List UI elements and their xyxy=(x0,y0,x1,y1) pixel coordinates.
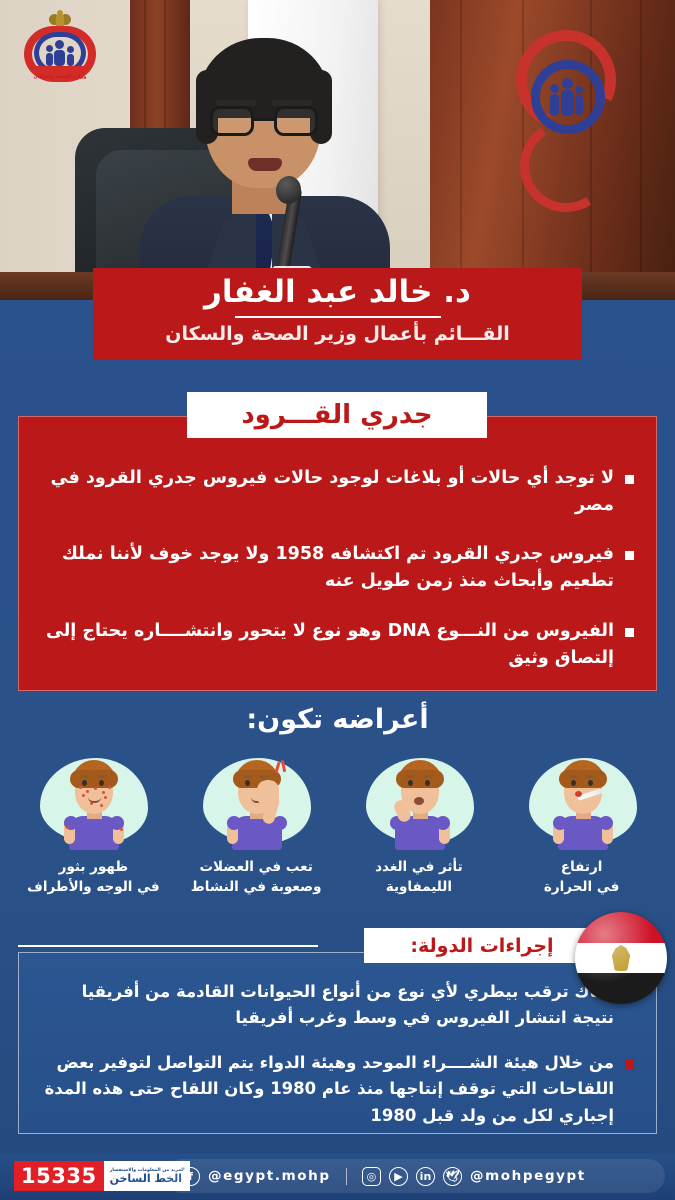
state-measure-item: من خلال هيئة الشــــراء الموحد وهيئة الد… xyxy=(41,1050,634,1129)
speaker-name-banner: د. خالد عبد الغفار القـــائم بأعمال وزير… xyxy=(93,268,582,360)
logo-family-icon xyxy=(46,40,74,66)
fatigue-kid-icon xyxy=(197,752,315,852)
banner-divider xyxy=(235,316,441,319)
bullet-square-icon xyxy=(625,475,634,484)
ministry-of-health-logo: وزارة الصحة والسكان xyxy=(16,10,104,92)
symptoms-row: ظهور بثورفي الوجه والأطراف xyxy=(12,752,663,912)
swollen-glands-kid-icon xyxy=(360,752,478,852)
thermometer-kid-icon xyxy=(523,752,641,852)
hotline-block[interactable]: للمزيد من المعلومات والاستفسار الخط السا… xyxy=(14,1161,190,1191)
eyeglasses-icon xyxy=(208,106,320,136)
footer-bar: للمزيد من المعلومات والاستفسار الخط السا… xyxy=(0,1154,675,1200)
linkedin-icon[interactable]: in xyxy=(416,1167,435,1186)
egypt-flag-badge-icon xyxy=(575,912,667,1004)
fact-item: الفيروس من النـــوع DNA وهو نوع لا يتحور… xyxy=(41,618,634,672)
symptom-item: تأثر في الغددالليمفاوية xyxy=(338,752,501,912)
bullet-square-icon xyxy=(625,1060,634,1069)
infographic-page: وزارة الصحة والسكان د. خالد عبد الغفار ا… xyxy=(0,0,675,1200)
state-measure-text: من خلال هيئة الشــــراء الموحد وهيئة الد… xyxy=(41,1050,614,1129)
social-bar: f @egypt.mohp ◎ ▶ in 🕊 @mohpegypt xyxy=(165,1159,665,1193)
hotline-number[interactable]: 15335 xyxy=(14,1161,104,1191)
symptom-label: تأثر في الغددالليمفاوية xyxy=(375,858,463,897)
instagram-icon[interactable]: ◎ xyxy=(362,1167,381,1186)
symptom-item: تعب في العضلاتوصعوبة في النشاط xyxy=(175,752,338,912)
fact-item: لا توجد أي حالات أو بلاغات لوجود حالات ف… xyxy=(41,465,634,519)
rash-kid-icon xyxy=(34,752,152,852)
social-divider xyxy=(346,1168,347,1185)
symptom-item: ارتفاعفي الحرارة xyxy=(500,752,663,912)
banner-family-figures-icon xyxy=(548,78,586,118)
youtube-icon[interactable]: ▶ xyxy=(389,1167,408,1186)
speaker-role: القـــائم بأعمال وزير الصحة والسكان xyxy=(93,323,582,346)
state-measures-heading-plate: إجراءات الدولة: xyxy=(364,928,600,963)
fact-text: لا توجد أي حالات أو بلاغات لوجود حالات ف… xyxy=(41,465,614,519)
main-title: جدري القـــرود xyxy=(241,400,432,430)
other-handle[interactable]: @mohpegypt xyxy=(470,1168,586,1184)
symptoms-heading: أعراضه تكون: xyxy=(0,704,675,735)
facebook-icon[interactable]: f xyxy=(181,1167,200,1186)
symptom-label: ارتفاعفي الحرارة xyxy=(544,858,619,897)
bullet-square-icon xyxy=(625,628,634,637)
twitter-icon[interactable]: 🕊 xyxy=(443,1167,462,1186)
pain-bolt-icon xyxy=(273,760,289,776)
main-title-plate: جدري القـــرود xyxy=(187,392,487,438)
facts-box: لا توجد أي حالات أو بلاغات لوجود حالات ف… xyxy=(18,416,657,691)
symptom-label: ظهور بثورفي الوجه والأطراف xyxy=(27,858,159,897)
symptom-item: ظهور بثورفي الوجه والأطراف xyxy=(12,752,175,912)
fact-item: فيروس جدري القرود تم اكتشافه 1958 ولا يو… xyxy=(41,541,634,595)
fact-text: فيروس جدري القرود تم اكتشافه 1958 ولا يو… xyxy=(41,541,614,595)
state-heading-rule xyxy=(18,945,318,947)
speaker-name: د. خالد عبد الغفار xyxy=(93,273,582,312)
symptom-label: تعب في العضلاتوصعوبة في النشاط xyxy=(191,858,322,897)
logo-caption: وزارة الصحة والسكان xyxy=(24,74,96,80)
state-measure-text: هناك ترقب بيطري لأي نوع من أنواع الحيوان… xyxy=(41,979,614,1032)
bullet-square-icon xyxy=(625,551,634,560)
mouth xyxy=(248,158,282,171)
fact-text: الفيروس من النـــوع DNA وهو نوع لا يتحور… xyxy=(41,618,614,672)
state-measure-item: هناك ترقب بيطري لأي نوع من أنواع الحيوان… xyxy=(41,979,634,1032)
facebook-handle[interactable]: @egypt.mohp xyxy=(208,1168,331,1184)
state-measures-heading: إجراءات الدولة: xyxy=(410,935,553,957)
state-measures-box: هناك ترقب بيطري لأي نوع من أنواع الحيوان… xyxy=(18,952,657,1134)
